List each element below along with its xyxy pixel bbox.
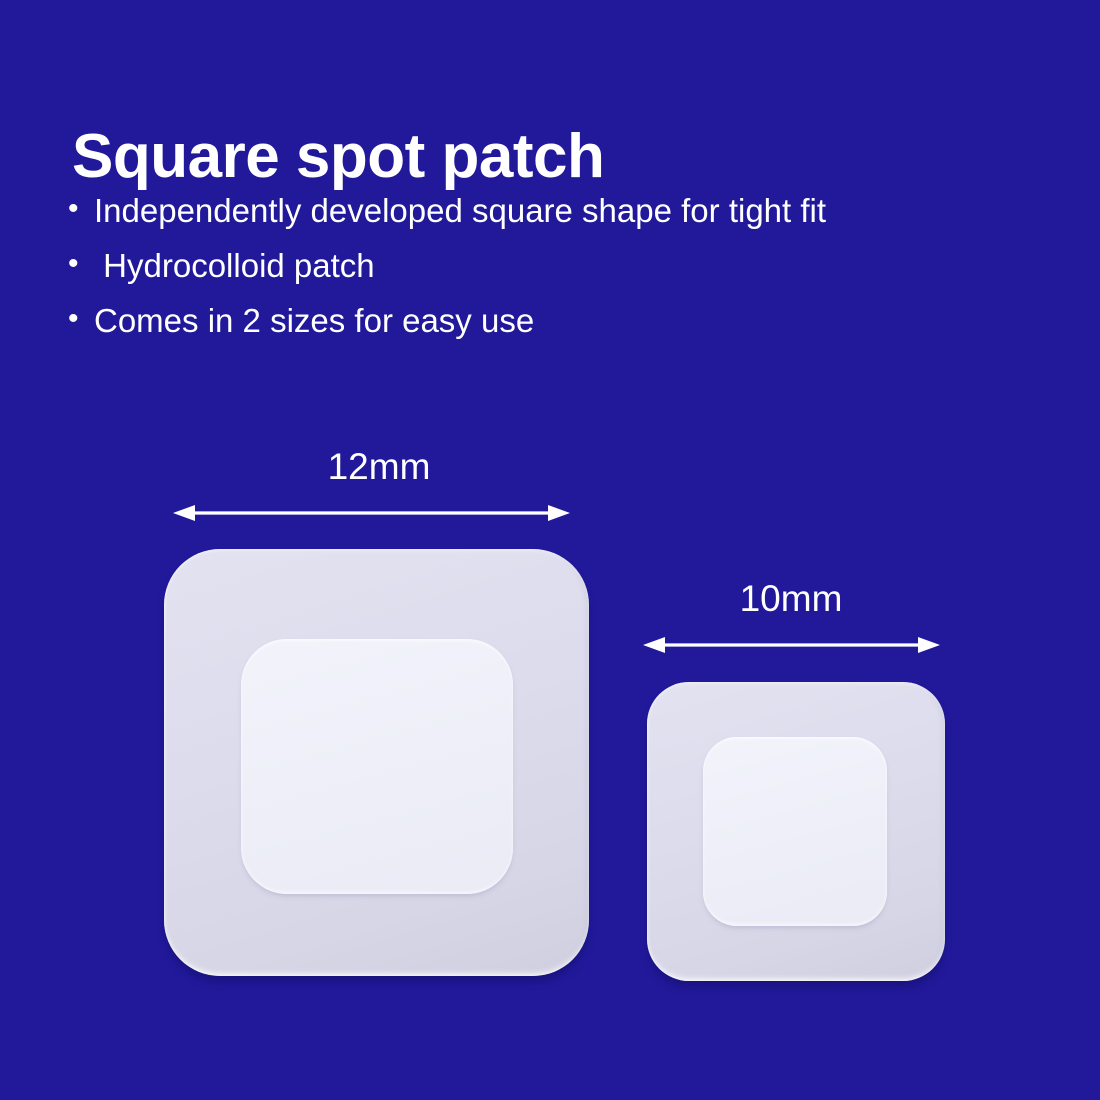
feature-text: Independently developed square shape for… [94,194,826,227]
bullet-dot-icon: • [68,194,94,224]
dimension-label-small: 10mm [661,580,921,617]
product-patch-large-core [241,639,513,894]
bullet-dot-icon: • [68,249,94,279]
feature-text: Hydrocolloid patch [94,249,375,282]
dimension-arrow-small-icon [643,634,940,656]
feature-text: Comes in 2 sizes for easy use [94,304,534,337]
feature-list: • Independently developed square shape f… [68,194,1028,359]
page-title: Square spot patch [72,126,604,188]
product-patch-small-core [703,737,887,926]
list-item: • Independently developed square shape f… [68,194,1028,227]
dimension-arrow-large-icon [173,502,570,524]
dimension-label-large: 12mm [249,448,509,485]
product-patch-large [164,549,589,976]
product-patch-small [647,682,945,981]
bullet-dot-icon: • [68,304,94,334]
list-item: • Hydrocolloid patch [68,249,1028,282]
product-info-poster: Square spot patch • Independently develo… [0,0,1100,1100]
list-item: • Comes in 2 sizes for easy use [68,304,1028,337]
